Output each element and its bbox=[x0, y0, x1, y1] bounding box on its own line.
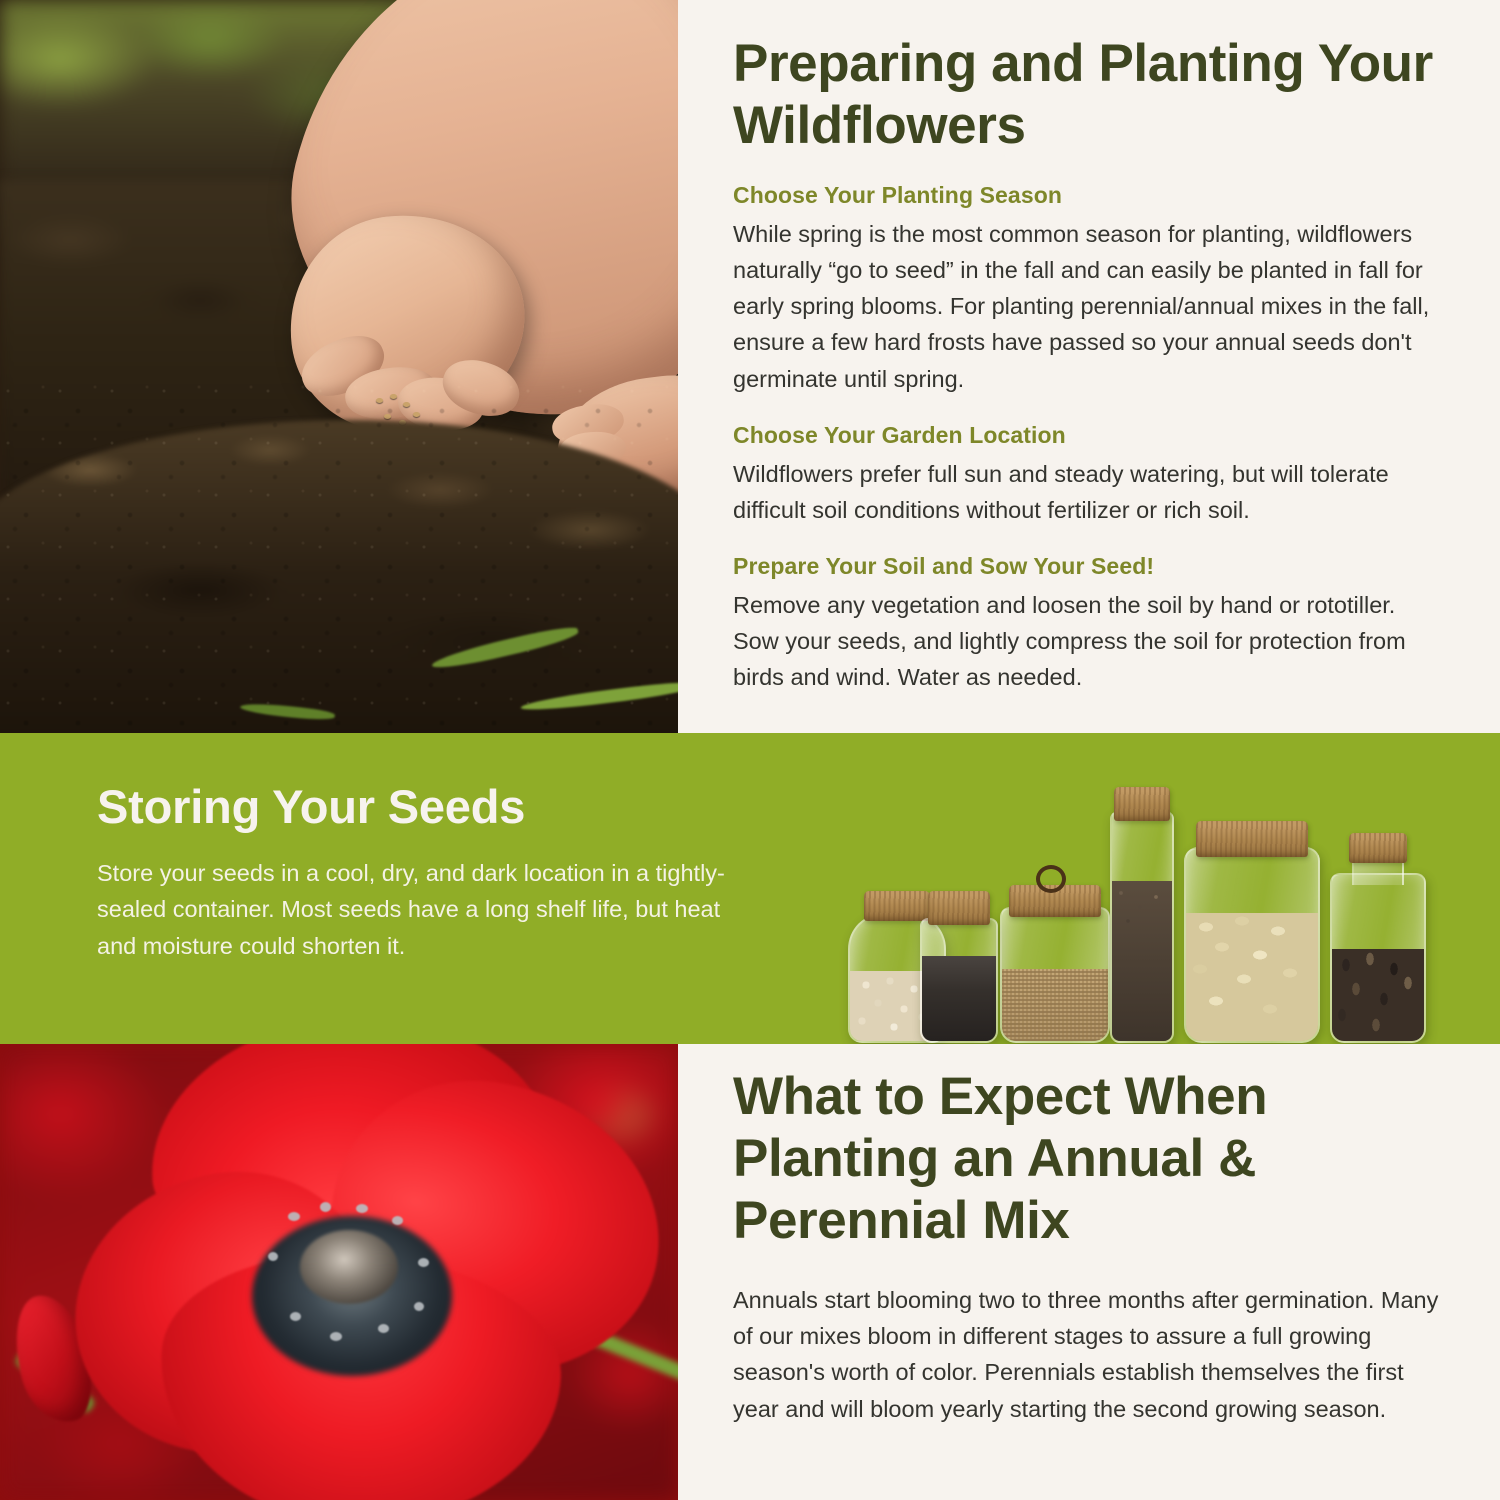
cork-lid-icon bbox=[1114, 787, 1170, 821]
soil-texture bbox=[0, 380, 678, 733]
soil-planting-photo bbox=[0, 0, 678, 733]
subheading-garden-location: Choose Your Garden Location bbox=[733, 397, 1456, 451]
what-to-expect-title: What to Expect When Planting an Annual &… bbox=[733, 1044, 1456, 1252]
jar-tall-cylinder-seeds bbox=[1110, 785, 1174, 1043]
storing-seeds-title: Storing Your Seeds bbox=[97, 781, 737, 833]
jar-pumpkin-seeds bbox=[1184, 811, 1320, 1043]
cork-lid-icon bbox=[1349, 833, 1407, 863]
section1-text-column: Preparing and Planting Your Wildflowers … bbox=[733, 0, 1456, 733]
red-poppy-photo bbox=[0, 1044, 678, 1500]
page-title: Preparing and Planting Your Wildflowers bbox=[733, 0, 1456, 157]
section-preparing-planting: Preparing and Planting Your Wildflowers … bbox=[0, 0, 1500, 733]
section2-text-column: Storing Your Seeds Store your seeds in a… bbox=[97, 781, 737, 965]
seed-jars-photo bbox=[848, 743, 1448, 1043]
jar-sunflower-seeds bbox=[1330, 843, 1426, 1043]
what-to-expect-body: Annuals start blooming two to three mont… bbox=[733, 1252, 1439, 1427]
infographic-page: Preparing and Planting Your Wildflowers … bbox=[0, 0, 1500, 1500]
section-storing-seeds: Storing Your Seeds Store your seeds in a… bbox=[0, 733, 1500, 1044]
cork-lid-icon bbox=[928, 891, 990, 925]
subheading-planting-season: Choose Your Planting Season bbox=[733, 157, 1456, 211]
body-garden-location: Wildflowers prefer full sun and steady w… bbox=[733, 451, 1439, 528]
poppy-stigma bbox=[300, 1230, 398, 1304]
body-prepare-soil: Remove any vegetation and loosen the soi… bbox=[733, 582, 1439, 696]
storing-seeds-body: Store your seeds in a cool, dry, and dar… bbox=[97, 833, 729, 965]
subheading-prepare-soil: Prepare Your Soil and Sow Your Seed! bbox=[733, 528, 1456, 582]
body-planting-season: While spring is the most common season f… bbox=[733, 211, 1439, 397]
jar-dark-poppy-seed bbox=[920, 893, 998, 1043]
wire-loop-icon bbox=[1036, 865, 1066, 893]
jar-fine-brown-seed bbox=[1000, 875, 1110, 1043]
section3-text-column: What to Expect When Planting an Annual &… bbox=[733, 1044, 1456, 1500]
cork-lid-icon bbox=[1196, 821, 1308, 857]
section-what-to-expect: What to Expect When Planting an Annual &… bbox=[0, 1044, 1500, 1500]
